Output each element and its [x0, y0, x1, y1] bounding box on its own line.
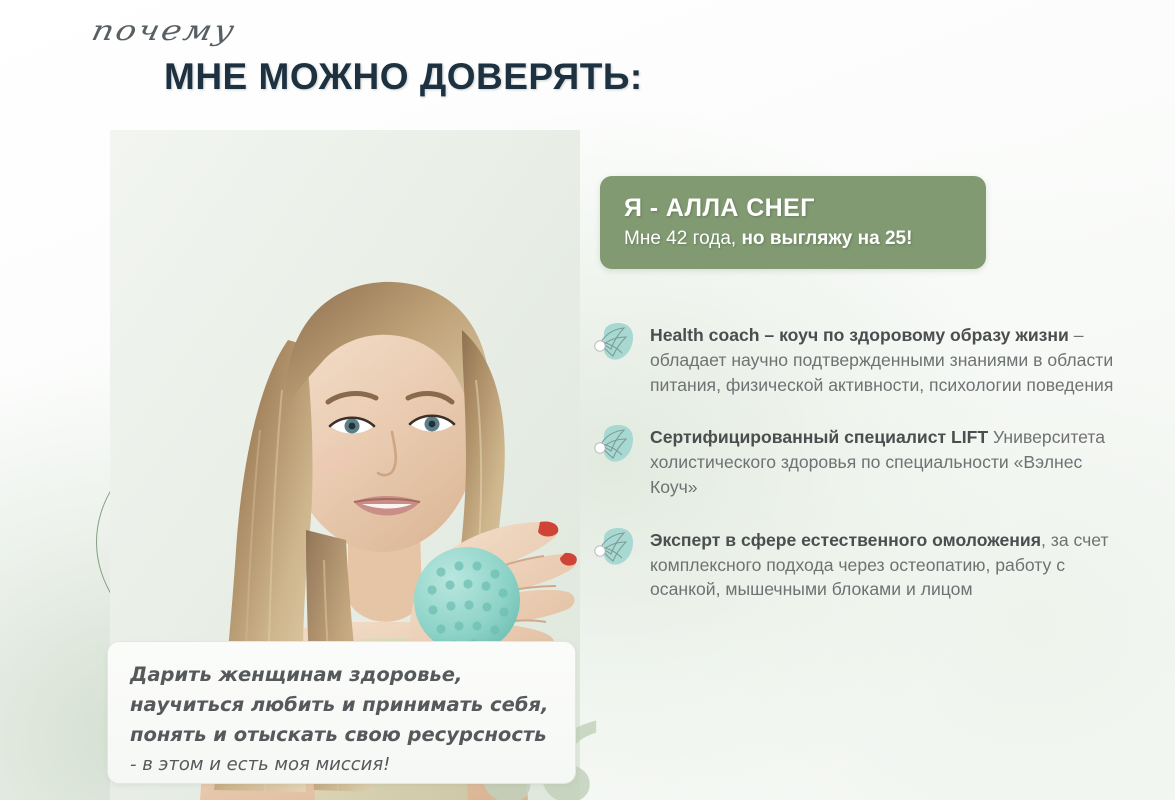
- quote-line-3: понять и отыскать свою ресурсность: [130, 720, 553, 750]
- name-card-subtitle-plain: Мне 42 года,: [624, 228, 741, 249]
- list-item-bold: Health coach – коуч по здоровому образу …: [650, 325, 1069, 345]
- mission-quote-text: Дарить женщинам здоровье, научиться люби…: [130, 660, 553, 780]
- quote-line-2: научиться любить и принимать себя,: [130, 690, 553, 720]
- list-item: Сертифицированный специалист LIFT Универ…: [594, 420, 1114, 499]
- list-item-bold: Эксперт в сфере естественного омоложения: [650, 530, 1041, 550]
- leaf-icon: [594, 525, 640, 571]
- leaf-icon: [594, 422, 640, 468]
- eyebrow-script-text: почему: [88, 12, 240, 50]
- mission-quote-box: Дарить женщинам здоровье, научиться люби…: [107, 641, 576, 784]
- promo-page: почему МНЕ МОЖНО ДОВЕРЯТЬ:: [0, 0, 1175, 800]
- page-title: МНЕ МОЖНО ДОВЕРЯТЬ:: [164, 56, 643, 98]
- quote-line-1: Дарить женщинам здоровье,: [130, 660, 553, 690]
- name-card-title: Я - АЛЛА СНЕГ: [624, 193, 986, 223]
- credentials-list: Health coach – коуч по здоровому образу …: [594, 318, 1114, 625]
- name-card: Я - АЛЛА СНЕГ Мне 42 года, но выгляжу на…: [600, 176, 986, 269]
- list-item-bold: Сертифицированный специалист LIFT: [650, 427, 988, 447]
- quote-line-4: - в этом и есть моя миссия!: [130, 750, 553, 780]
- name-card-subtitle: Мне 42 года, но выгляжу на 25!: [624, 226, 986, 251]
- list-item-text: Эксперт в сфере естественного омоложения…: [650, 523, 1114, 602]
- list-item-text: Health coach – коуч по здоровому образу …: [650, 318, 1114, 397]
- list-item-text: Сертифицированный специалист LIFT Универ…: [650, 420, 1114, 499]
- name-card-subtitle-bold: но выгляжу на 25!: [741, 228, 912, 249]
- leaf-icon: [594, 320, 640, 366]
- list-item: Эксперт в сфере естественного омоложения…: [594, 523, 1114, 602]
- list-item: Health coach – коуч по здоровому образу …: [594, 318, 1114, 397]
